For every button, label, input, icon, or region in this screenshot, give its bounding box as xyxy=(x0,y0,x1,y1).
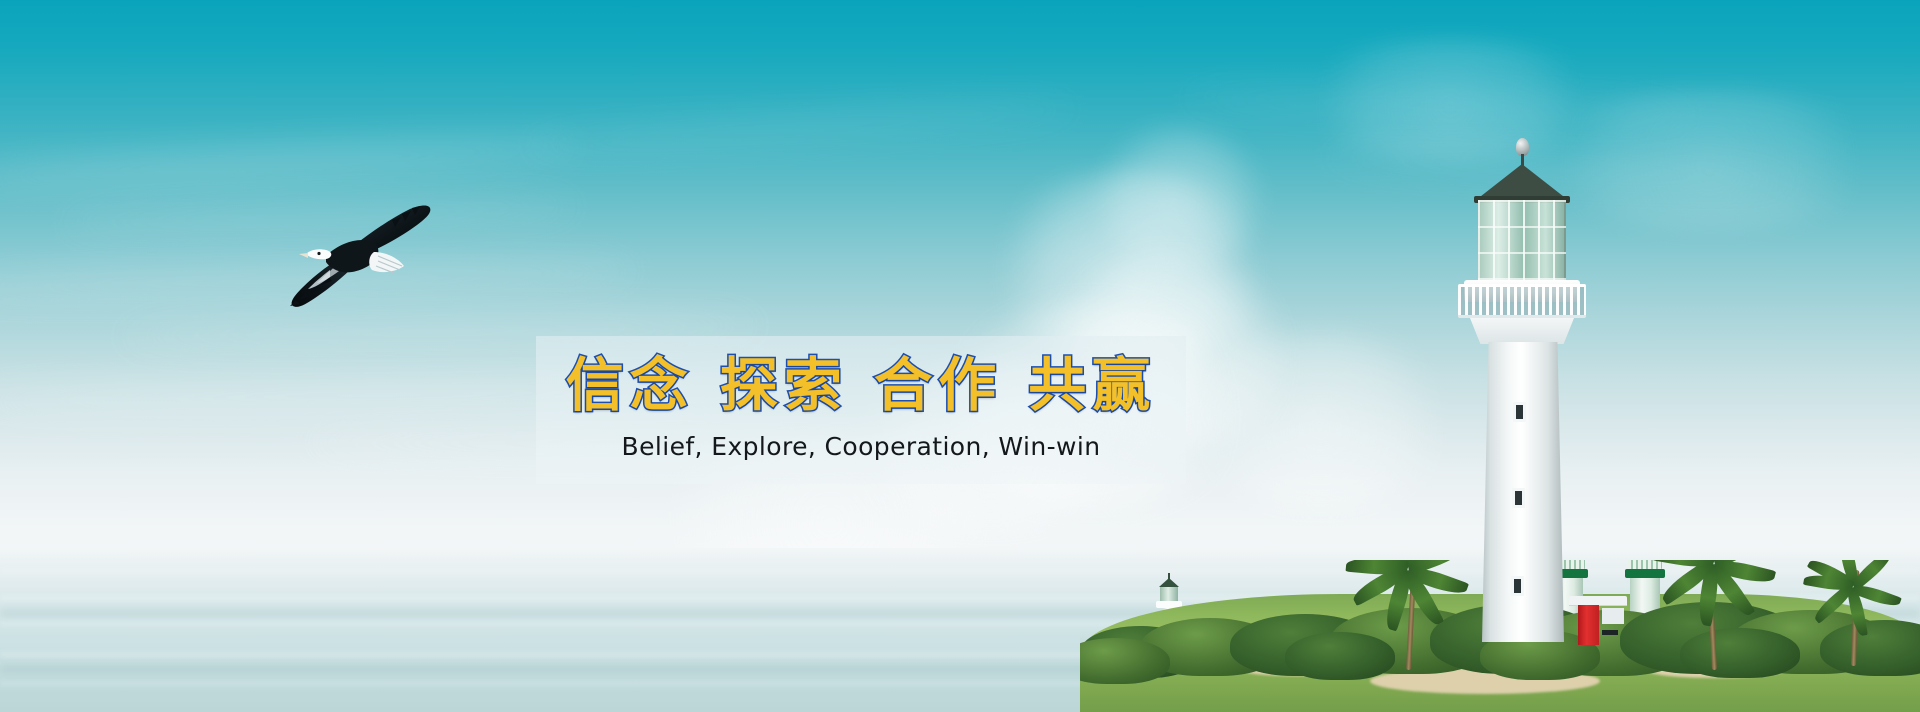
minaret-gallery xyxy=(1625,569,1665,578)
palm-tree-icon xyxy=(1820,570,1886,666)
page-subtitle: Belief, Explore, Cooperation, Win-win xyxy=(536,432,1186,461)
hero-banner-scene: 信念 探索 合作 共赢 Belief, Explore, Cooperation… xyxy=(0,0,1920,712)
palm-tree-icon xyxy=(1672,560,1756,670)
lighthouse-corbel xyxy=(1470,318,1574,344)
lighthouse-window xyxy=(1512,488,1525,508)
lighthouse-window xyxy=(1513,402,1526,422)
lighthouse-window xyxy=(1511,576,1524,596)
lantern-glazing-bars xyxy=(1478,200,1566,282)
lighthouse-railing xyxy=(1458,284,1586,318)
lighthouse-icon xyxy=(1430,138,1610,638)
page-title: 信念 探索 合作 共赢 xyxy=(536,342,1186,428)
slogan-panel: 信念 探索 合作 共赢 Belief, Explore, Cooperation… xyxy=(536,336,1186,484)
eagle-icon xyxy=(286,196,432,314)
minaret-railing xyxy=(1628,560,1662,569)
lighthouse-roof xyxy=(1476,164,1568,200)
